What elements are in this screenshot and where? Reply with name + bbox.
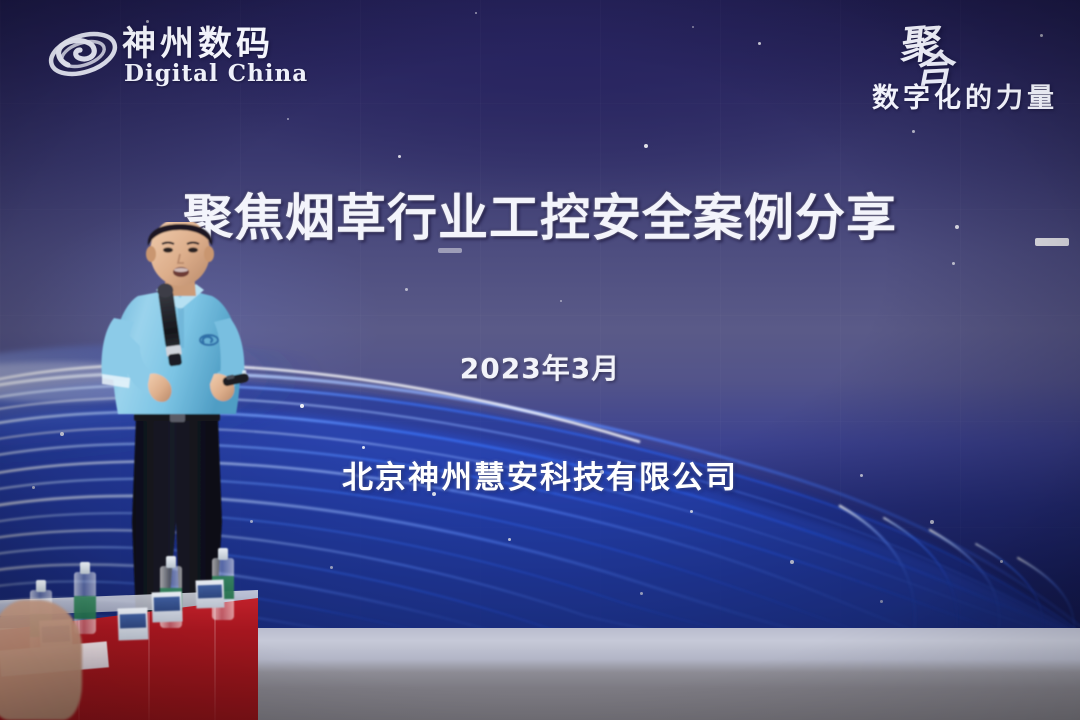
digital-china-logo: 神州数码 Digital China (46, 18, 316, 98)
name-card-strip (153, 597, 180, 612)
bottle-cap (36, 580, 47, 592)
bottle-cap (166, 556, 177, 568)
name-card (196, 580, 225, 609)
name-card (151, 591, 182, 622)
conference-stage-photo: 聚焦烟草行业工控安全案例分享 2023年3月 北京神州慧安科技有限公司 神州数码… (0, 0, 1080, 720)
audience-member-foreground (0, 600, 82, 720)
name-card-strip (119, 613, 146, 629)
name-card-strip (197, 585, 222, 599)
cloth-fold (148, 598, 150, 720)
bottle-cap (80, 562, 91, 574)
bottle-cap (218, 548, 229, 560)
event-theme-logo: 聚 合 数字化的力量 (798, 14, 1058, 110)
event-tagline: 数字化的力量 (872, 76, 1058, 115)
logo-name-cn: 神州数码 (122, 16, 274, 65)
logo-name-en: Digital China (124, 60, 308, 87)
name-card (117, 607, 148, 640)
water-bottle (74, 562, 96, 634)
bottle-label (74, 596, 96, 619)
spiral-galaxy-icon (46, 21, 120, 87)
